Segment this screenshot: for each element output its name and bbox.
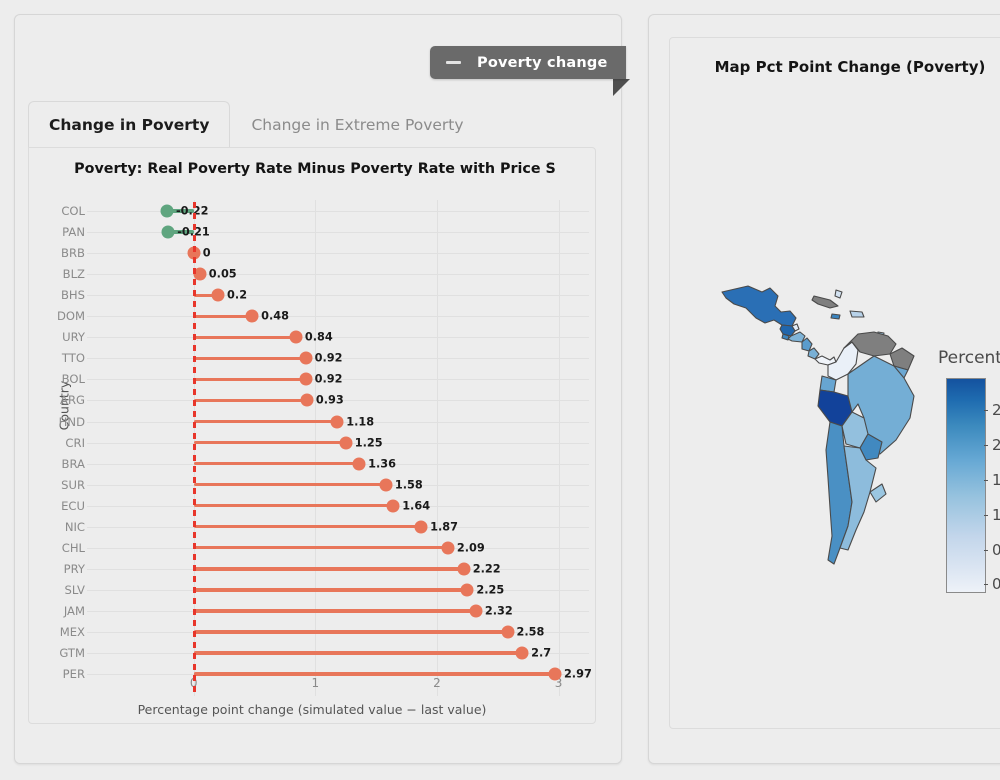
value-label-MEX: 2.58	[517, 626, 545, 639]
y-axis-tick-NIC: NIC	[39, 520, 85, 534]
y-axis-tick-BHS: BHS	[39, 288, 85, 302]
lollipop-dot-BOL[interactable]	[299, 373, 312, 386]
colorbar-title: Percent	[938, 348, 1000, 368]
value-label-BRB: 0	[203, 247, 211, 260]
lollipop-stem-GTM	[194, 651, 522, 654]
lollipop-stem-DOM	[194, 315, 252, 318]
lollipop-dot-MEX[interactable]	[501, 626, 514, 639]
value-label-BHS: 0.2	[227, 289, 247, 302]
value-label-PER: 2.97	[564, 668, 592, 681]
lollipop-dot-GTM[interactable]	[516, 647, 529, 660]
lollipop-stem-CHL	[194, 546, 448, 549]
lollipop-stem-NIC	[194, 525, 421, 528]
lollipop-stem-PER	[194, 672, 555, 675]
colorbar-tick-5: 0.0	[984, 575, 1000, 593]
latin-america-choropleth[interactable]	[718, 278, 918, 588]
y-axis-tick-PER: PER	[39, 667, 85, 681]
chart-card: Poverty: Real Poverty Rate Minus Poverty…	[28, 147, 596, 724]
lollipop-stem-ECU	[194, 504, 393, 507]
row-gridline	[87, 316, 589, 317]
lollipop-dot-CRI[interactable]	[339, 436, 352, 449]
colorbar-tick-4: 0.5	[984, 541, 1000, 559]
value-label-PRY: 2.22	[473, 562, 501, 575]
lollipop-dot-ECU[interactable]	[387, 499, 400, 512]
row-gridline	[87, 337, 589, 338]
tab-change-in-extreme-poverty[interactable]: Change in Extreme Poverty	[230, 101, 484, 147]
y-axis-tick-TTO: TTO	[39, 351, 85, 365]
poverty-change-ribbon[interactable]: Poverty change	[430, 46, 626, 79]
lollipop-stem-JAM	[194, 609, 476, 612]
lollipop-dot-HND[interactable]	[331, 415, 344, 428]
map-region-URY	[870, 484, 886, 502]
minus-icon[interactable]	[446, 61, 461, 64]
lollipop-dot-JAM[interactable]	[469, 604, 482, 617]
lollipop-stem-SLV	[194, 588, 468, 591]
colorbar-tick-2: 1.5	[984, 471, 1000, 489]
y-axis-tick-JAM: JAM	[39, 604, 85, 618]
y-axis-tick-BOL: BOL	[39, 372, 85, 386]
map-region-MEX	[722, 286, 796, 326]
map-title: Map Pct Point Change (Poverty)	[670, 58, 1000, 76]
lollipop-stem-PRY	[194, 567, 464, 570]
y-axis-tick-SLV: SLV	[39, 583, 85, 597]
map-region-BHS	[835, 290, 842, 298]
lollipop-chart: Country Percentage point change (simulat…	[29, 148, 595, 723]
y-axis-tick-ECU: ECU	[39, 499, 85, 513]
lollipop-stem-SUR	[194, 483, 386, 486]
x-axis-label: Percentage point change (simulated value…	[29, 702, 595, 717]
y-axis-tick-PRY: PRY	[39, 562, 85, 576]
value-label-BRA: 1.36	[368, 457, 396, 470]
lollipop-stem-BOL	[194, 378, 306, 381]
value-label-NIC: 1.87	[430, 520, 458, 533]
lollipop-dot-COL[interactable]	[160, 205, 173, 218]
value-label-BOL: 0.92	[315, 373, 343, 386]
map-region-DOM	[850, 311, 864, 317]
value-label-CHL: 2.09	[457, 541, 485, 554]
zero-reference-line	[193, 202, 196, 692]
y-axis-tick-CRI: CRI	[39, 436, 85, 450]
map-region-JAM	[831, 314, 840, 319]
lollipop-dot-PER[interactable]	[548, 668, 561, 681]
value-label-GTM: 2.7	[531, 647, 551, 660]
y-axis-tick-BLZ: BLZ	[39, 267, 85, 281]
y-axis-tick-MEX: MEX	[39, 625, 85, 639]
y-axis-tick-ARG: ARG	[39, 393, 85, 407]
lollipop-dot-NIC[interactable]	[415, 520, 428, 533]
value-label-ARG: 0.93	[316, 394, 344, 407]
y-axis-tick-BRA: BRA	[39, 457, 85, 471]
row-gridline	[87, 253, 589, 254]
colorbar-tick-1: 2.0	[984, 436, 1000, 454]
lollipop-stem-BRA	[194, 462, 359, 465]
lollipop-stem-HND	[194, 420, 338, 423]
y-axis-tick-COL: COL	[39, 204, 85, 218]
y-axis-tick-HND: HND	[39, 415, 85, 429]
lollipop-dot-PRY[interactable]	[457, 562, 470, 575]
value-label-BLZ: 0.05	[209, 268, 237, 281]
y-axis-tick-DOM: DOM	[39, 309, 85, 323]
lollipop-dot-BHS[interactable]	[212, 289, 225, 302]
value-label-ECU: 1.64	[402, 499, 430, 512]
row-gridline	[87, 295, 589, 296]
y-axis-tick-BRB: BRB	[39, 246, 85, 260]
value-label-SLV: 2.25	[476, 583, 504, 596]
colorbar	[946, 378, 986, 593]
x-axis-tick: 2	[433, 676, 441, 690]
lollipop-dot-DOM[interactable]	[246, 310, 259, 323]
lollipop-stem-ARG	[194, 399, 307, 402]
y-axis-tick-CHL: CHL	[39, 541, 85, 555]
x-axis-tick: 1	[312, 676, 320, 690]
map-card: Map Pct Point Change (Poverty)	[669, 37, 1000, 729]
lollipop-stem-CRI	[194, 441, 346, 444]
value-label-CRI: 1.25	[355, 436, 383, 449]
y-axis-tick-URY: URY	[39, 330, 85, 344]
ribbon-tail	[613, 79, 630, 96]
lollipop-stem-URY	[194, 336, 296, 339]
lollipop-dot-ARG[interactable]	[300, 394, 313, 407]
map-region-GTM	[780, 325, 795, 336]
row-gridline	[87, 274, 589, 275]
value-label-JAM: 2.32	[485, 604, 513, 617]
y-axis-tick-PAN: PAN	[39, 225, 85, 239]
lollipop-dot-CHL[interactable]	[441, 541, 454, 554]
y-axis-tick-GTM: GTM	[39, 646, 85, 660]
y-axis-tick-SUR: SUR	[39, 478, 85, 492]
value-label-SUR: 1.58	[395, 478, 423, 491]
tab-bar: Change in Poverty Change in Extreme Pove…	[28, 101, 485, 147]
lollipop-stem-TTO	[194, 357, 306, 360]
map-region-CUB	[812, 296, 838, 308]
lollipop-dot-PAN[interactable]	[162, 226, 175, 239]
ribbon-label: Poverty change	[477, 55, 608, 71]
lollipop-dot-SUR[interactable]	[379, 478, 392, 491]
value-label-URY: 0.84	[305, 331, 333, 344]
lollipop-dot-TTO[interactable]	[299, 352, 312, 365]
map-panel: Map Pct Point Change (Poverty)	[648, 14, 1000, 764]
value-label-DOM: 0.48	[261, 310, 289, 323]
lollipop-stem-MEX	[194, 630, 508, 633]
colorbar-tick-0: 2.5	[984, 401, 1000, 419]
value-label-TTO: 0.92	[315, 352, 343, 365]
lollipop-dot-BRA[interactable]	[353, 457, 366, 470]
lollipop-dot-SLV[interactable]	[461, 583, 474, 596]
colorbar-tick-3: 1.0	[984, 506, 1000, 524]
lollipop-dot-URY[interactable]	[289, 331, 302, 344]
tab-change-in-poverty[interactable]: Change in Poverty	[28, 101, 230, 147]
value-label-HND: 1.18	[346, 415, 374, 428]
